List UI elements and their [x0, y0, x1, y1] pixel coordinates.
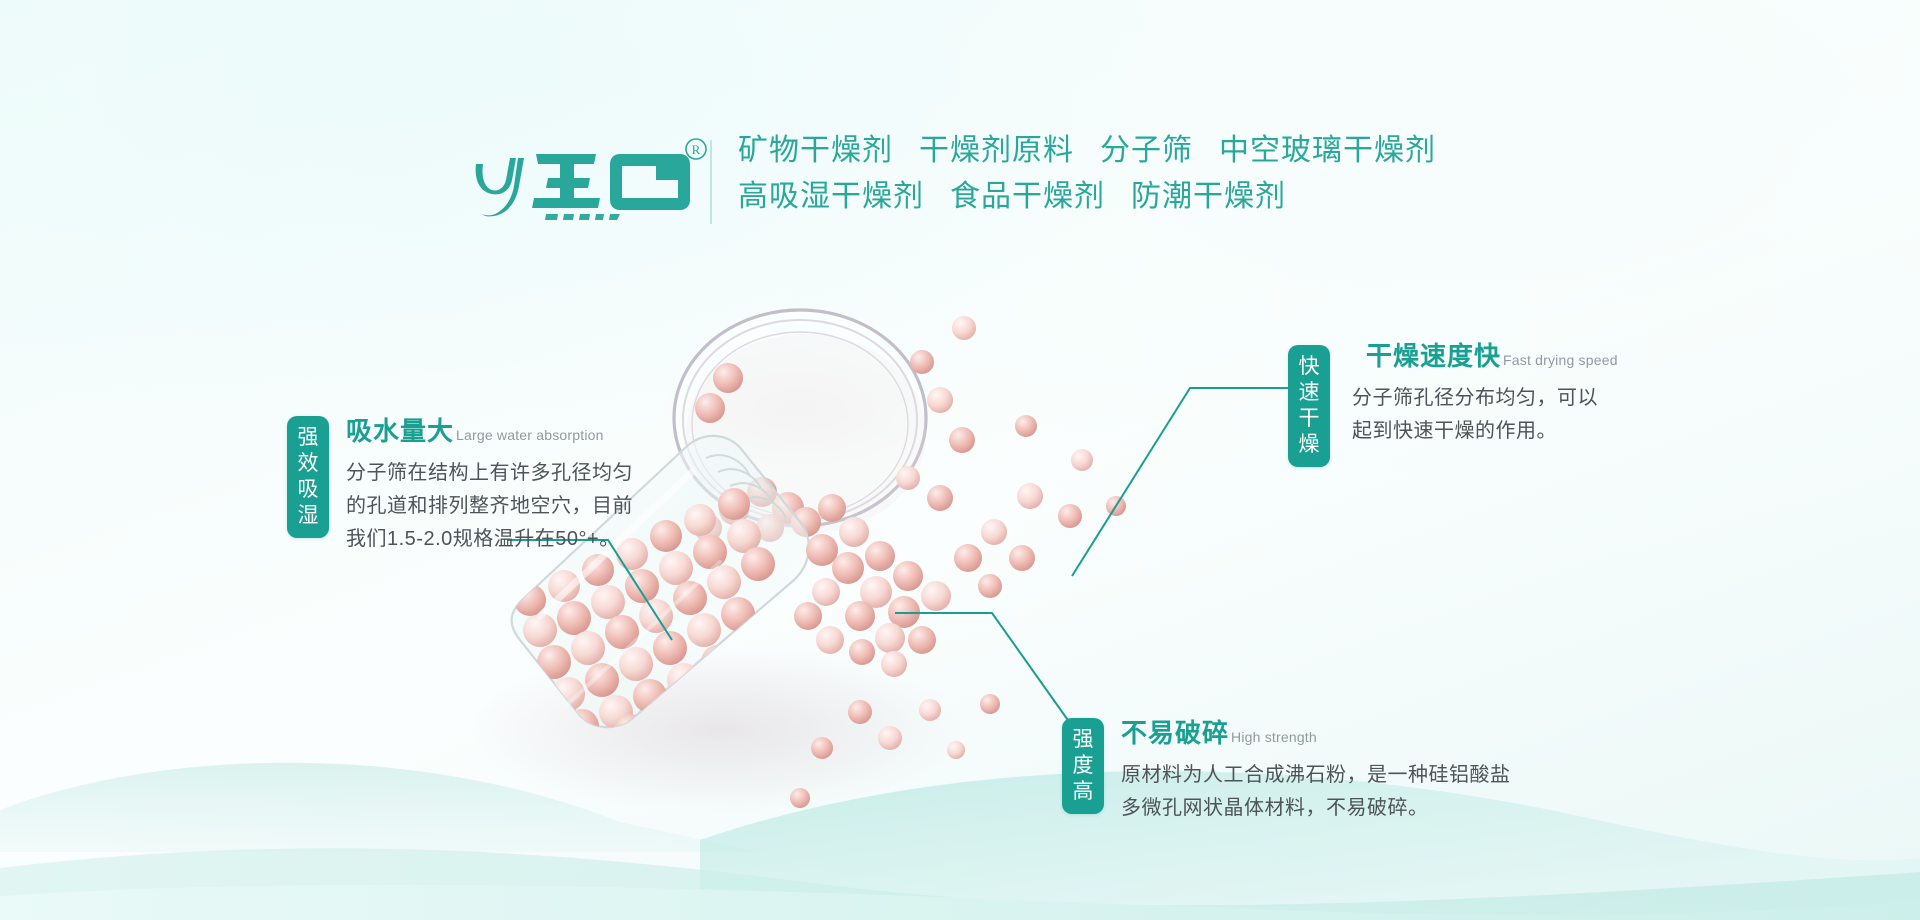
keyword-row-1: 矿物干燥剂 干燥剂原料 分子筛 中空玻璃干燥剂 [738, 128, 1498, 174]
callout-subtitle: Large water absorption [456, 420, 604, 450]
keyword-molecular-sieve[interactable]: 分子筛 [1100, 128, 1193, 174]
bowl-beads [694, 363, 846, 542]
badge-char: 速 [1299, 380, 1320, 406]
callout-large-water-absorption: 强 效 吸 湿 吸水量大 Large water absorption 分子筛在… [287, 416, 633, 556]
yaqi-logo-mark: R [470, 128, 720, 224]
wave-decoration [0, 700, 1920, 920]
badge-fast-drying: 快 速 干 燥 [1288, 345, 1330, 467]
badge-strong-absorption: 强 效 吸 湿 [287, 416, 329, 538]
keyword-food-desiccant[interactable]: 食品干燥剂 [950, 174, 1105, 220]
keyword-insulating-glass[interactable]: 中空玻璃干燥剂 [1219, 128, 1436, 174]
badge-char: 吸 [298, 477, 319, 503]
callout-description: 原材料为人工合成沸石粉，是一种硅铝酸盐 多微孔网状晶体材料，不易破碎。 [1121, 759, 1511, 825]
badge-char: 强 [298, 425, 319, 451]
connector-strength [895, 613, 1082, 740]
callout-fast-drying-speed: 快 速 干 燥 干燥速度快 Fast drying speed 分子筛孔径分布均… [1288, 345, 1618, 467]
badge-char: 干 [1299, 406, 1320, 432]
badge-high-strength: 强 度 高 [1062, 718, 1104, 814]
callout-description: 分子筛孔径分布均匀，可以 起到快速干燥的作用。 [1352, 382, 1618, 448]
glass-bowl [674, 310, 926, 534]
keyword-row-2: 高吸湿干燥剂 食品干燥剂 防潮干燥剂 [738, 174, 1498, 220]
callout-subtitle: Fast drying speed [1503, 345, 1618, 375]
svg-text:R: R [692, 142, 701, 157]
keyword-high-absorption[interactable]: 高吸湿干燥剂 [738, 174, 924, 220]
badge-char: 强 [1073, 727, 1094, 753]
header-divider [710, 140, 712, 224]
badge-char: 快 [1299, 354, 1320, 380]
badge-char: 效 [298, 451, 319, 477]
badge-char: 高 [1073, 779, 1094, 805]
callout-high-strength: 强 度 高 不易破碎 High strength 原材料为人工合成沸石粉，是一种… [1062, 718, 1511, 825]
badge-char: 燥 [1299, 432, 1320, 458]
badge-char: 湿 [298, 503, 319, 529]
keyword-nav: 矿物干燥剂 干燥剂原料 分子筛 中空玻璃干燥剂 高吸湿干燥剂 食品干燥剂 防潮干… [738, 128, 1498, 220]
keyword-desiccant-raw[interactable]: 干燥剂原料 [919, 128, 1074, 174]
keyword-mineral-desiccant[interactable]: 矿物干燥剂 [738, 128, 893, 174]
keyword-moisture-proof[interactable]: 防潮干燥剂 [1131, 174, 1286, 220]
brand-logo[interactable]: R [470, 128, 720, 224]
callout-title: 干燥速度快 [1366, 341, 1501, 371]
callout-title: 吸水量大 [346, 416, 454, 446]
connector-speed [1072, 388, 1290, 576]
badge-char: 度 [1073, 753, 1094, 779]
callout-title: 不易破碎 [1121, 718, 1229, 748]
callout-description: 分子筛在结构上有许多孔径均匀 的孔道和排列整齐地空穴，目前 我们1.5-2.0规… [346, 457, 633, 556]
registered-trademark-icon: R [686, 139, 706, 159]
callout-subtitle: High strength [1231, 722, 1317, 752]
banner-canvas: R 矿物干燥剂 干燥剂原料 分子筛 中空玻璃干燥剂 高吸湿干燥剂 食品干燥剂 防… [0, 0, 1920, 920]
